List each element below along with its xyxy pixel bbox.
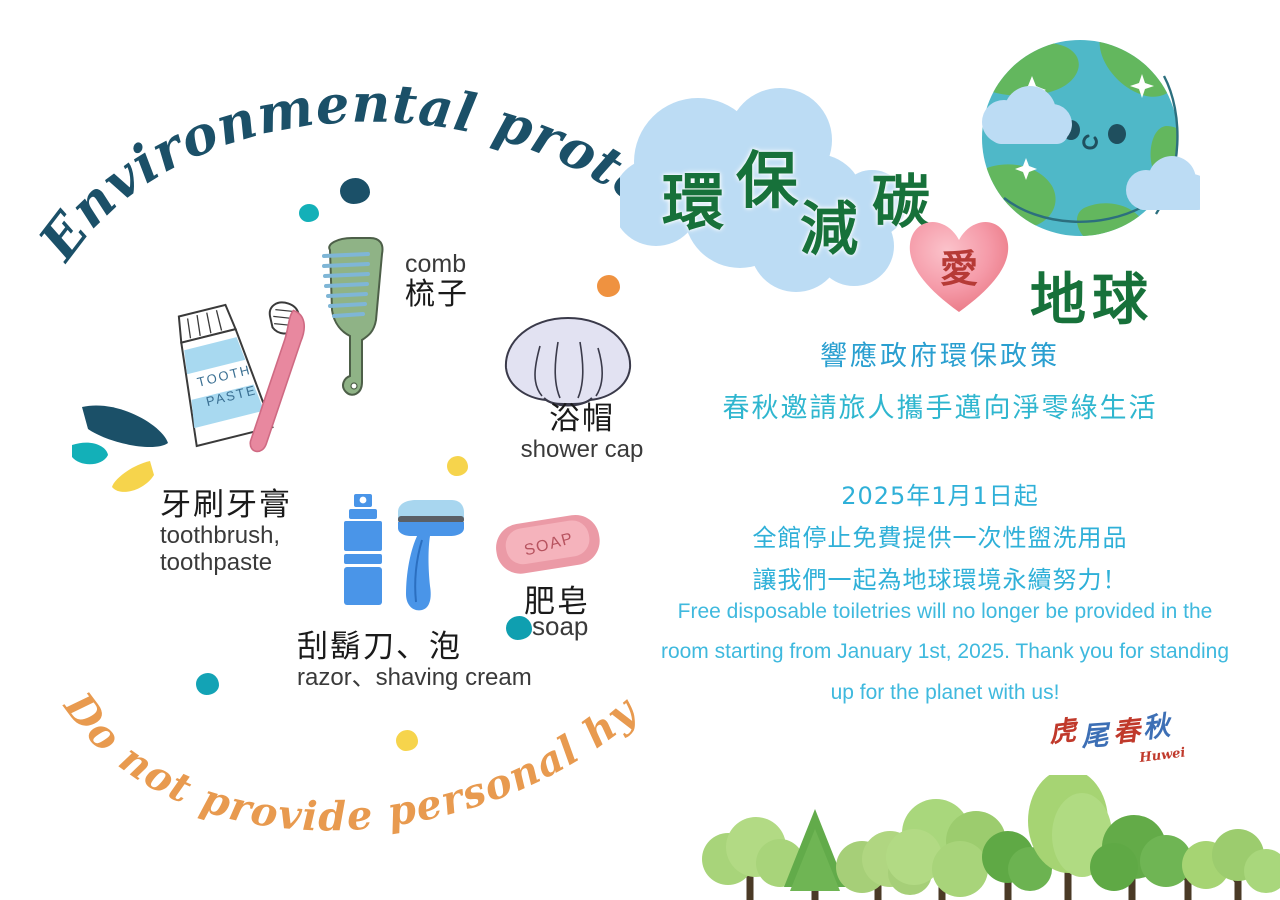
- headline-char-huan: 環: [662, 152, 724, 242]
- label-toothbrush: 牙刷牙膏 toothbrush, toothpaste: [160, 488, 292, 576]
- shower-cap-label-cn: 浴帽: [512, 402, 652, 437]
- tree-line-illustration: [690, 775, 1280, 900]
- toothbrush-label-en-2: toothpaste: [160, 550, 292, 577]
- comb-label-cn: 梳子: [405, 278, 469, 312]
- splash-yellow-icon: [112, 461, 154, 492]
- policy-line-2: 春秋邀請旅人攜手邁向淨零綠生活: [640, 386, 1240, 425]
- shower-cap-label-en: shower cap: [512, 437, 652, 464]
- soap-illustration: SOAP: [490, 505, 610, 585]
- logo-char-3: 春: [1111, 715, 1144, 749]
- soap-label-en: soap: [532, 612, 590, 641]
- razor-label-cn: 刮鬍刀、泡: [297, 630, 532, 665]
- comb-hole-icon: [351, 383, 357, 389]
- arc-title-bottom: Do not provide personal hygiene products: [48, 690, 668, 860]
- logo-char-1: 虎: [1047, 715, 1081, 749]
- shaving-cream-can-icon: [344, 494, 382, 605]
- english-notice: Free disposable toiletries will no longe…: [660, 592, 1230, 713]
- logo-romanization: Huwei: [1138, 745, 1187, 766]
- heart-char-ai: 愛: [940, 247, 978, 291]
- decor-dot-teal: [299, 204, 319, 222]
- notice-line-1: 2025年1月1日起: [640, 476, 1240, 511]
- comb-label-en: comb: [405, 250, 469, 278]
- razor-label-en: razor、shaving cream: [297, 665, 532, 692]
- decor-dot-yellow-2: [396, 730, 418, 751]
- toothpaste-illustration: TOOTH PASTE: [152, 282, 312, 472]
- decor-dot-teal-2: [196, 673, 219, 695]
- policy-line-1: 響應政府環保政策: [640, 334, 1240, 373]
- headline-char-jian: 減: [800, 182, 858, 266]
- decor-dot-yellow-mid: [447, 456, 468, 476]
- poster-canvas: Environmental protection Do not provide …: [0, 0, 1280, 900]
- shower-cap-illustration: [498, 312, 638, 412]
- earth-illustration: [960, 30, 1200, 250]
- notice-line-3: 讓我們一起為地球環境永續努力！: [640, 560, 1240, 595]
- tree-group-icon: [702, 775, 1280, 900]
- shower-cap-body-icon: [506, 318, 630, 404]
- comb-illustration: [312, 232, 404, 402]
- toothbrush-label-en-1: toothbrush,: [160, 523, 292, 550]
- toothbrush-label-cn: 牙刷牙膏: [160, 488, 292, 523]
- label-comb: comb 梳子: [405, 250, 469, 312]
- brand-logo: 虎 尾 春 秋 Huwei: [1048, 716, 1198, 774]
- logo-char-4: 秋: [1141, 710, 1176, 745]
- razor-illustration: [336, 490, 486, 620]
- label-razor: 刮鬍刀、泡 razor、shaving cream: [297, 630, 532, 692]
- decor-dot-navy: [340, 178, 370, 204]
- label-soap: 肥皂 soap: [524, 585, 590, 641]
- headline-char-bao: 保: [736, 130, 798, 220]
- headline-char-diqiu: 地球: [1030, 255, 1154, 336]
- notice-line-2: 全館停止免費提供一次性盥洗用品: [640, 518, 1240, 553]
- decor-dot-orange: [597, 275, 620, 297]
- splash-teal-icon: [72, 443, 108, 465]
- logo-char-2: 尾: [1079, 720, 1112, 753]
- label-shower-cap: 浴帽 shower cap: [512, 402, 652, 464]
- razor-icon: [398, 500, 464, 610]
